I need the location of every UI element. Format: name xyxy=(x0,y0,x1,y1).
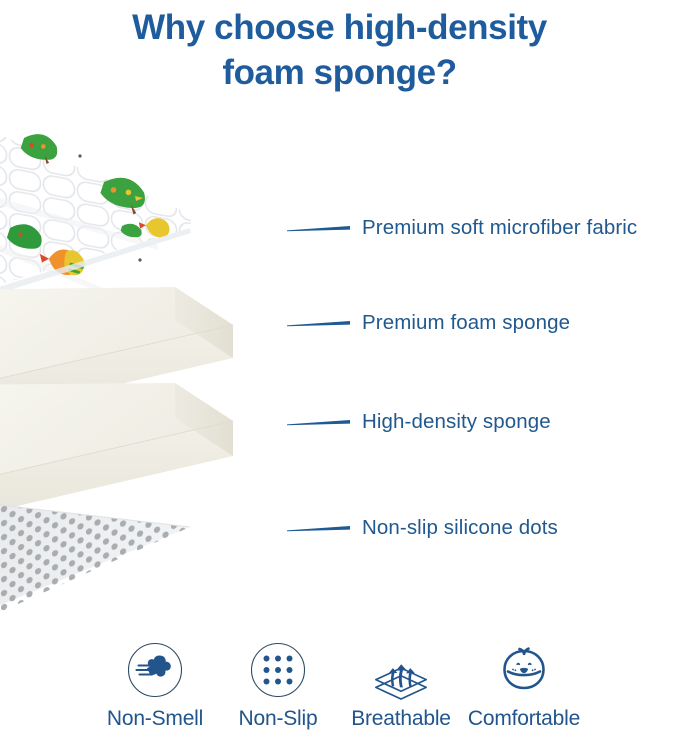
feature-breathable: Breathable xyxy=(340,640,463,732)
callout-lower-foam: High-density sponge xyxy=(286,409,551,435)
callout-label: Premium soft microfiber fabric xyxy=(362,215,637,241)
leader-line-icon xyxy=(286,416,352,428)
page-title-line-2: foam sponge? xyxy=(0,50,679,95)
leader-line-icon xyxy=(286,222,352,234)
feature-non-smell: Non-Smell xyxy=(94,640,217,732)
feature-label: Breathable xyxy=(351,706,451,732)
baby-face-icon xyxy=(494,640,554,700)
feature-label: Non-Smell xyxy=(107,706,203,732)
leader-line-icon xyxy=(286,317,352,329)
dot-grid-icon xyxy=(248,640,308,700)
feature-comfortable: Comfortable xyxy=(463,640,586,732)
leader-line-icon xyxy=(286,522,352,534)
feature-label: Non-Slip xyxy=(239,706,318,732)
odor-cloud-icon xyxy=(125,640,185,700)
callout-label: Non-slip silicone dots xyxy=(362,515,558,541)
mattress-exploded-diagram xyxy=(0,100,330,630)
feature-label: Comfortable xyxy=(468,706,580,732)
callout-top-fabric: Premium soft microfiber fabric xyxy=(286,215,637,241)
feature-non-slip: Non-Slip xyxy=(217,640,340,732)
feature-strip: Non-Smell Non-Slip xyxy=(0,640,679,748)
callout-label: High-density sponge xyxy=(362,409,551,435)
airflow-layers-icon xyxy=(371,640,431,700)
page-title: Why choose high-density foam sponge? xyxy=(0,0,679,95)
layer-silicone-base xyxy=(0,480,220,630)
callout-upper-foam: Premium foam sponge xyxy=(286,310,570,336)
callout-label: Premium foam sponge xyxy=(362,310,570,336)
layer-lower-foam xyxy=(0,383,233,524)
page-title-line-1: Why choose high-density xyxy=(0,5,679,50)
callout-silicone-base: Non-slip silicone dots xyxy=(286,515,558,541)
